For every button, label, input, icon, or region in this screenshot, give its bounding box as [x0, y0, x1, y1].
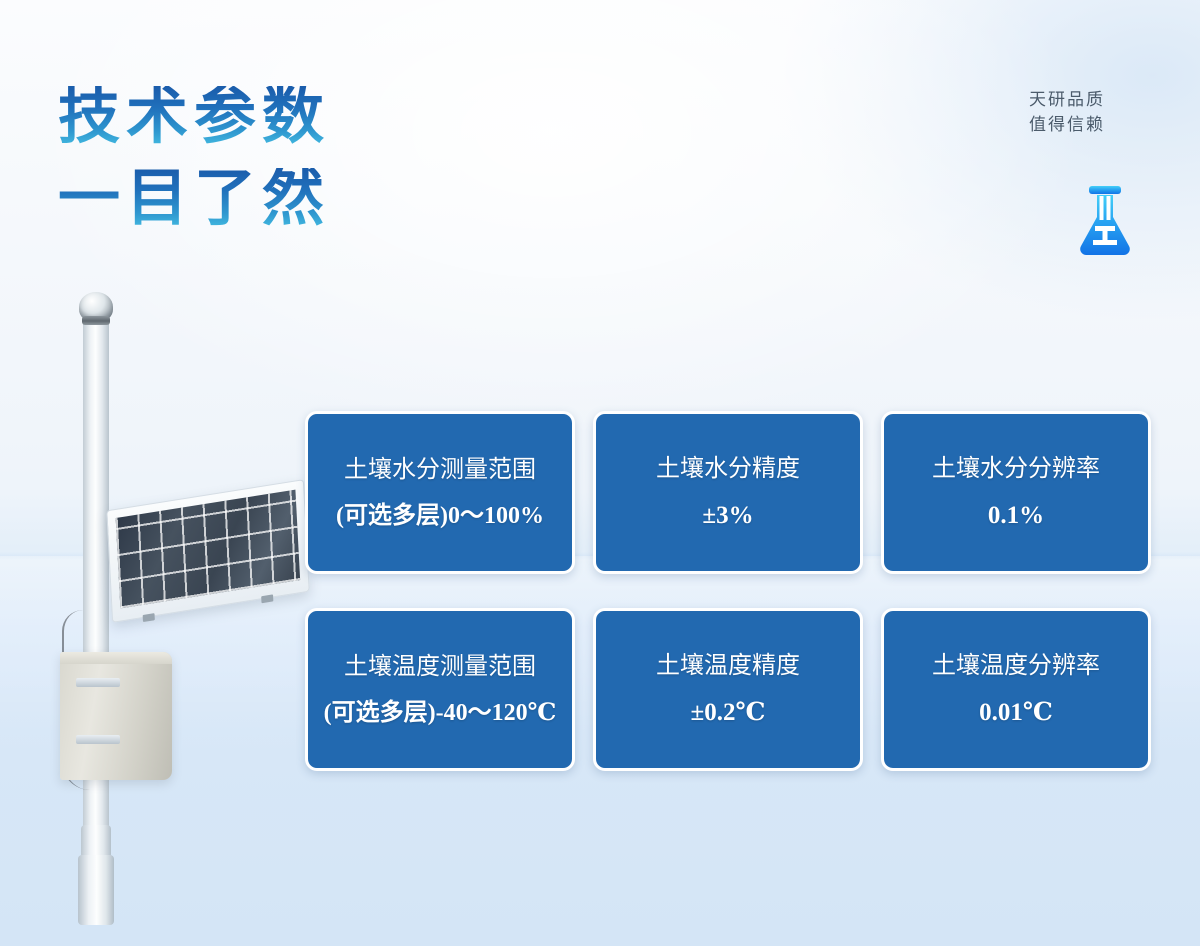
spec-card-soil-temperature-accuracy: 土壤温度精度 ±0.2℃	[593, 608, 863, 771]
spec-card-title: 土壤温度测量范围	[344, 652, 536, 682]
spec-card-title: 土壤水分精度	[656, 454, 800, 484]
spec-card-title: 土壤温度精度	[656, 651, 800, 681]
flask-icon	[1074, 182, 1136, 256]
spec-card-value: (可选多层)-40～120℃	[324, 698, 557, 728]
spec-card-soil-temperature-range: 土壤温度测量范围 (可选多层)-40～120℃	[305, 608, 575, 771]
spec-card-value: ±0.2℃	[691, 697, 766, 728]
brand-slogan-line-2: 值得信赖	[982, 113, 1152, 138]
spec-card-title: 土壤温度分辨率	[932, 651, 1100, 681]
page-title-line-1: 技术参数	[58, 86, 330, 148]
spec-card-title: 土壤水分测量范围	[344, 455, 536, 485]
solar-panel-mount-b	[261, 594, 273, 603]
control-box-bracket-lower	[76, 735, 120, 744]
brand-slogan: 天研品质 值得信赖	[982, 88, 1152, 137]
spec-card-value: 0.01℃	[979, 697, 1053, 728]
spec-card-value: (可选多层)0～100%	[336, 501, 544, 531]
solar-panel-mount-a	[143, 613, 155, 622]
spec-card-soil-moisture-resolution: 土壤水分分辨率 0.1%	[881, 411, 1151, 574]
product-photo	[40, 280, 290, 920]
control-box	[60, 652, 172, 780]
spec-card-soil-temperature-resolution: 土壤温度分辨率 0.01℃	[881, 608, 1151, 771]
page-title: 技术参数 一目了然	[58, 86, 330, 230]
dome-sensor-collar	[82, 316, 110, 325]
solar-panel-cells	[116, 490, 300, 609]
solar-panel	[106, 479, 309, 623]
control-box-lid	[60, 652, 172, 664]
spec-sheet-page: 技术参数 一目了然 天研品质 值得信赖	[0, 0, 1200, 946]
page-title-line-2: 一目了然	[58, 168, 330, 230]
pole-base-section	[78, 855, 114, 925]
spec-card-soil-moisture-accuracy: 土壤水分精度 ±3%	[593, 411, 863, 574]
spec-card-soil-moisture-range: 土壤水分测量范围 (可选多层)0～100%	[305, 411, 575, 574]
spec-card-value: 0.1%	[988, 500, 1044, 531]
control-box-bracket-upper	[76, 678, 120, 687]
brand-slogan-line-1: 天研品质	[982, 88, 1152, 113]
spec-card-title: 土壤水分分辨率	[932, 454, 1100, 484]
spec-card-grid: 土壤水分测量范围 (可选多层)0～100% 土壤水分精度 ±3% 土壤水分分辨率…	[305, 411, 1155, 771]
spec-card-value: ±3%	[702, 500, 753, 531]
